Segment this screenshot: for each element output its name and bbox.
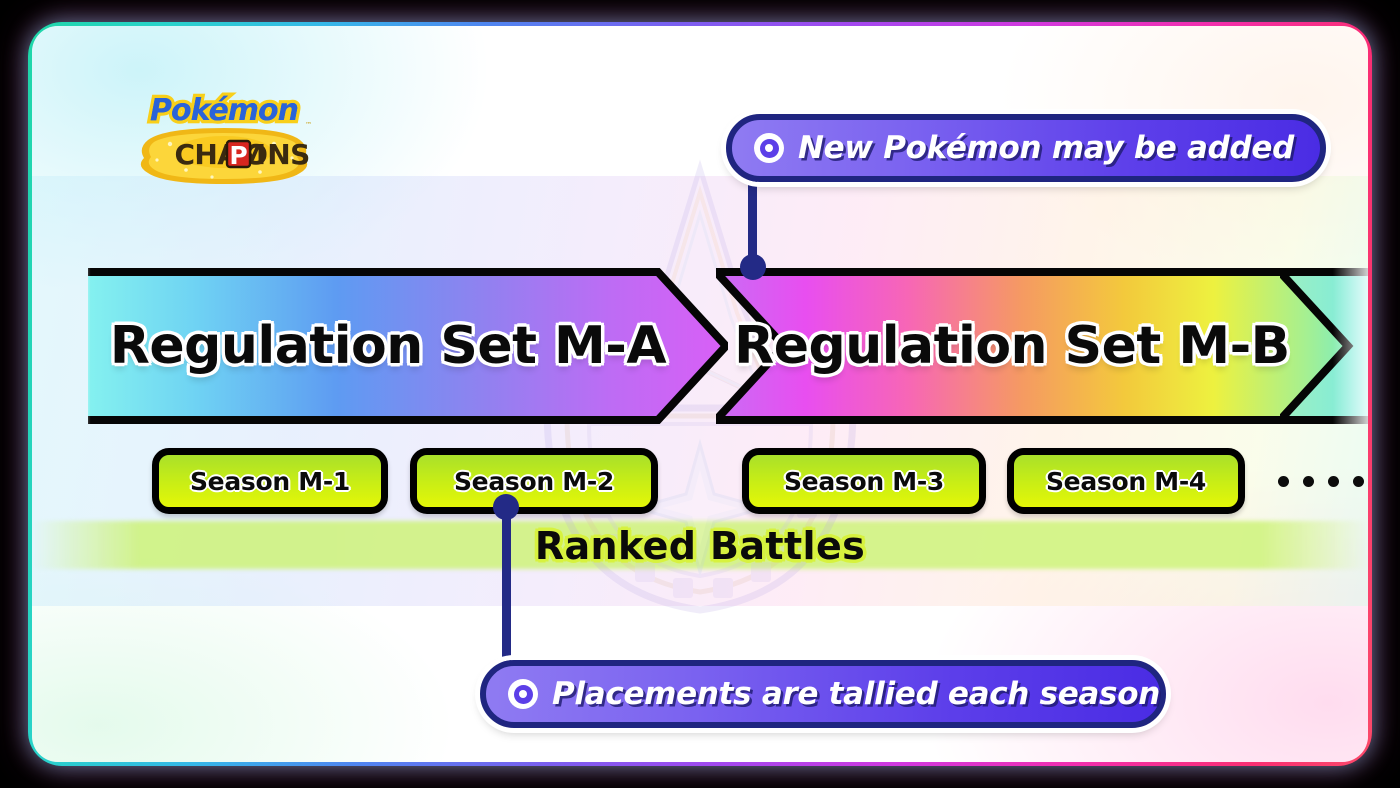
season-pill-m-4[interactable]: Season M-4 (1007, 448, 1245, 514)
svg-text:™: ™ (305, 121, 312, 129)
callout-connector-dot-bottom (493, 494, 519, 520)
callout-text: New Pokémon may be added (798, 130, 1294, 166)
target-icon (754, 133, 784, 163)
season-pill-label: Season M-4 (1046, 467, 1206, 496)
regulation-banner-m-a-label: Regulation Set M-A (88, 268, 688, 424)
callout-placements-tallied[interactable]: Placements are tallied each season (480, 660, 1166, 728)
season-continuation-dots (1278, 466, 1364, 496)
rainbow-border-inner: Pokémon Pokémon ™ CHAM IONS P (32, 26, 1368, 762)
svg-text:Pokémon: Pokémon (150, 93, 298, 128)
season-pill-label: Season M-1 (190, 467, 350, 496)
season-pill-m-1[interactable]: Season M-1 (152, 448, 388, 514)
callout-connector-dot-top (740, 254, 766, 280)
callout-new-pokemon[interactable]: New Pokémon may be added (726, 114, 1326, 182)
target-icon (508, 679, 538, 709)
season-pill-m-2[interactable]: Season M-2 (410, 448, 658, 514)
regulation-banner-continuation (1280, 268, 1368, 424)
ellipsis-dot (1278, 476, 1289, 487)
ellipsis-dot (1303, 476, 1314, 487)
screenshot-root: Pokémon Pokémon ™ CHAM IONS P (0, 0, 1400, 788)
pokeball-p-icon: P (227, 141, 250, 170)
callout-text: Placements are tallied each season (552, 676, 1160, 712)
rainbow-border-outer: Pokémon Pokémon ™ CHAM IONS P (28, 22, 1372, 766)
logo-pokemon-wordmark: Pokémon Pokémon ™ (150, 93, 312, 129)
regulation-banner-m-b-label: Regulation Set M-B (722, 268, 1302, 424)
regulation-banner-row: Regulation Set M-A (32, 268, 1368, 424)
logo-champions-wordmark: CHAM IONS P (174, 138, 309, 171)
season-pill-m-3[interactable]: Season M-3 (742, 448, 986, 514)
season-pill-label: Season M-3 (784, 467, 944, 496)
ellipsis-dot (1353, 476, 1364, 487)
season-pill-label: Season M-2 (454, 467, 614, 496)
pokemon-champions-logo: Pokémon Pokémon ™ CHAM IONS P (124, 78, 324, 188)
ellipsis-dot (1328, 476, 1339, 487)
svg-text:P: P (229, 141, 247, 170)
ranked-battles-label: Ranked Battles (32, 524, 1368, 568)
content-card: Pokémon Pokémon ™ CHAM IONS P (32, 26, 1368, 762)
callout-connector-line-bottom (502, 504, 511, 672)
